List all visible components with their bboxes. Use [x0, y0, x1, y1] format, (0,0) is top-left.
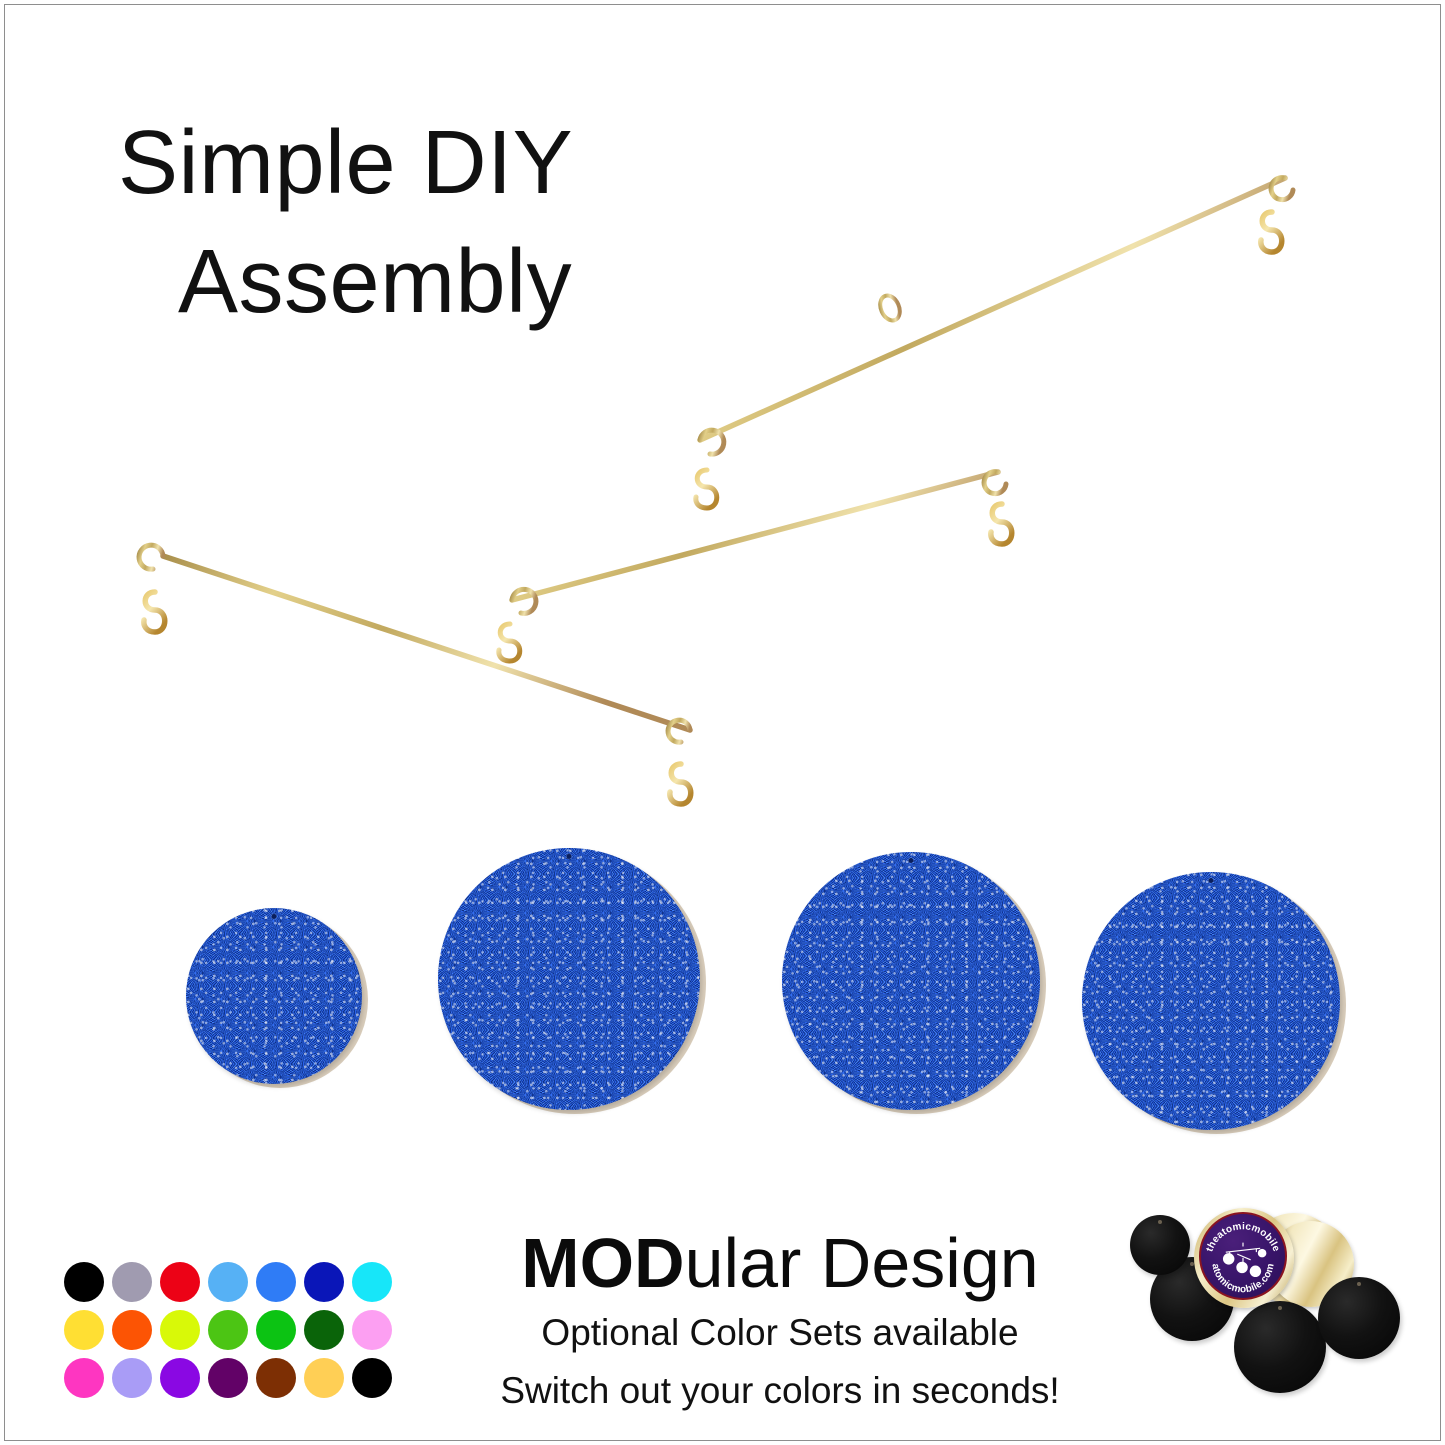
- mobile-icon-dot-1: [1223, 1253, 1234, 1264]
- s-hook-bottom-right: [670, 748, 691, 804]
- swatch-cell: [156, 1258, 204, 1306]
- swatch-dark-green: [304, 1310, 344, 1350]
- brand-tagline-1: Optional Color Sets available: [430, 1309, 1130, 1356]
- black-disc-right: [1318, 1277, 1400, 1359]
- s-hook-middle-right: [991, 488, 1012, 544]
- swatch-orange: [112, 1310, 152, 1350]
- disc-large-3: [1082, 872, 1340, 1130]
- swatch-cell: [204, 1258, 252, 1306]
- swatch-light-pink: [352, 1310, 392, 1350]
- badge-graphic: theatomicmobile atomicmobile.com: [1201, 1214, 1285, 1298]
- mobile-arm-top: [700, 178, 1293, 455]
- swatch-hot-pink: [64, 1358, 104, 1398]
- swatch-cell: [348, 1354, 396, 1402]
- color-swatch-grid: [60, 1258, 396, 1402]
- mobile-icon-dot-2: [1236, 1262, 1247, 1273]
- swatch-cell: [300, 1354, 348, 1402]
- s-hook-connector-middle-bottom: [499, 610, 520, 661]
- brand-title: MODular Design: [430, 1228, 1130, 1299]
- s-hook-bottom-left: [144, 576, 165, 632]
- black-disc-upper-left: [1130, 1215, 1190, 1275]
- swatch-black: [64, 1262, 104, 1302]
- badge-top-text: theatomicmobile: [1204, 1221, 1281, 1253]
- swatch-navy: [304, 1262, 344, 1302]
- brand-title-light: ular Design: [685, 1224, 1039, 1302]
- swatch-cell: [156, 1354, 204, 1402]
- disc-small: [186, 908, 362, 1084]
- swatch-cell: [252, 1354, 300, 1402]
- badge-face: theatomicmobile atomicmobile.com: [1199, 1212, 1287, 1300]
- swatch-gray: [112, 1262, 152, 1302]
- swatch-cell: [300, 1258, 348, 1306]
- swatch-apple-green: [208, 1310, 248, 1350]
- brand-tagline-2: Switch out your colors in seconds!: [430, 1367, 1130, 1414]
- swatch-red: [160, 1262, 200, 1302]
- disc-large-2: [782, 852, 1040, 1110]
- swatch-light-blue: [208, 1262, 248, 1302]
- swatch-violet: [160, 1358, 200, 1398]
- black-disc-center: [1234, 1301, 1326, 1393]
- swatch-cell: [108, 1354, 156, 1402]
- swatch-green: [256, 1310, 296, 1350]
- s-hook-top-right: [1261, 194, 1282, 252]
- swatch-cell: [252, 1258, 300, 1306]
- brand-logo-badge: theatomicmobile atomicmobile.com: [1194, 1208, 1294, 1308]
- swatch-periwinkle: [112, 1358, 152, 1398]
- balance-loop: [876, 292, 903, 323]
- swatch-blue: [256, 1262, 296, 1302]
- branding-block: MODular Design Optional Color Sets avail…: [430, 1228, 1130, 1414]
- swatch-chartreuse: [160, 1310, 200, 1350]
- swatch-cell: [108, 1258, 156, 1306]
- mobile-wire-assembly: [0, 0, 1445, 900]
- disc-large-1: [438, 848, 700, 1110]
- swatch-cell: [108, 1306, 156, 1354]
- mobile-icon-dot-4: [1258, 1249, 1267, 1258]
- swatch-cell: [252, 1306, 300, 1354]
- swatch-black-2: [352, 1358, 392, 1398]
- s-hook-connector-top-middle: [696, 455, 717, 508]
- swatch-cyan: [352, 1262, 392, 1302]
- swatch-cell: [204, 1306, 252, 1354]
- product-image-canvas: Simple DIY Assembly: [0, 0, 1445, 1445]
- mobile-icon-dot-3: [1250, 1266, 1261, 1277]
- swatch-yellow: [64, 1310, 104, 1350]
- swatch-cell: [60, 1258, 108, 1306]
- swatch-cell: [60, 1306, 108, 1354]
- swatch-cell: [300, 1306, 348, 1354]
- brand-title-bold: MOD: [521, 1224, 684, 1302]
- mobile-arm-middle: [512, 472, 1006, 614]
- swatch-cell: [204, 1354, 252, 1402]
- swatch-cell: [156, 1306, 204, 1354]
- swatch-dark-purple: [208, 1358, 248, 1398]
- swatch-brown: [256, 1358, 296, 1398]
- swatch-cell: [348, 1306, 396, 1354]
- logo-cluster: theatomicmobile atomicmobile.com: [1150, 1205, 1430, 1440]
- swatch-cell: [60, 1354, 108, 1402]
- swatch-golden-yellow: [304, 1358, 344, 1398]
- swatch-cell: [348, 1258, 396, 1306]
